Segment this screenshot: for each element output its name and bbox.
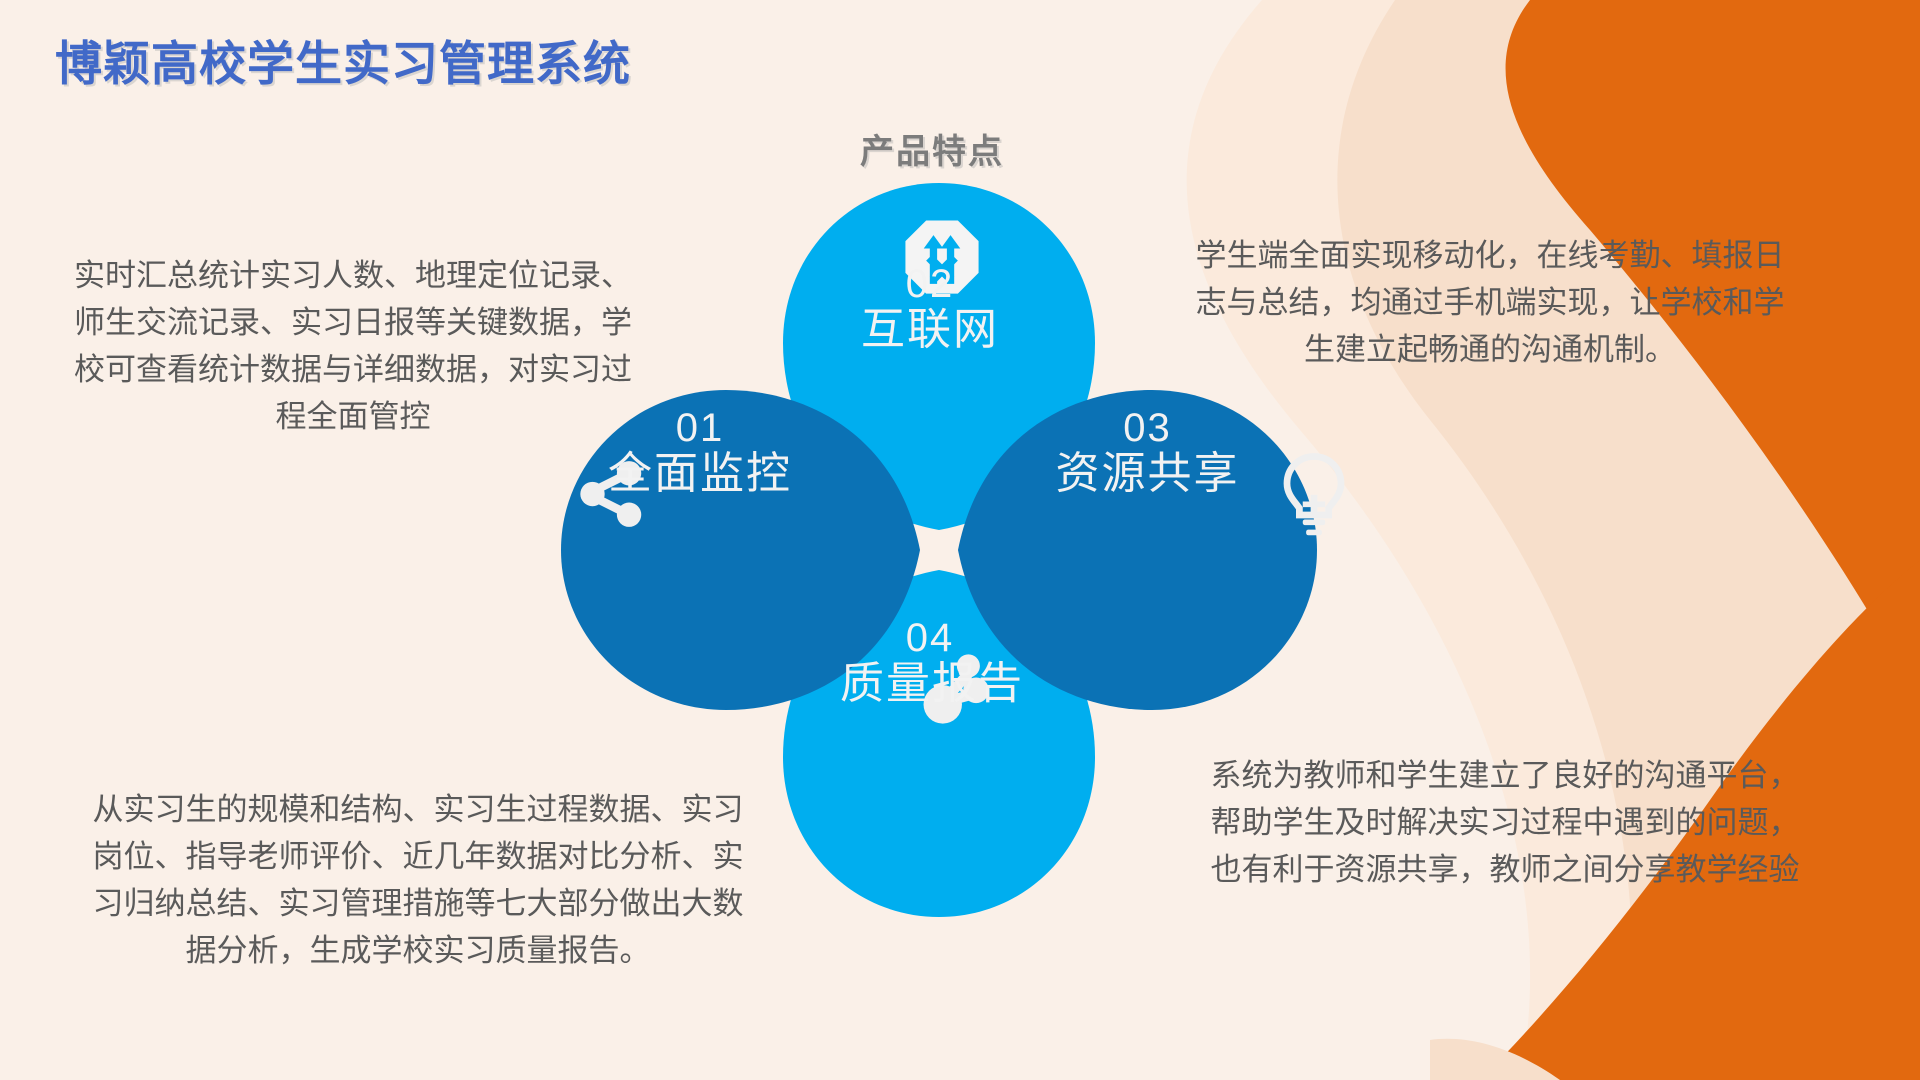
decor-band-mid (1337, 0, 1920, 1080)
decor-band-bottom-tail (1430, 1039, 1560, 1080)
petal-diagram (530, 180, 1410, 920)
slide-canvas: 博颖高校学生实习管理系统 产品特点 实时汇总统计实习人数、地理定位记录、师生交流… (0, 0, 1920, 1080)
page-title: 博颖高校学生实习管理系统 (55, 25, 631, 94)
section-heading: 产品特点 (860, 124, 1004, 173)
